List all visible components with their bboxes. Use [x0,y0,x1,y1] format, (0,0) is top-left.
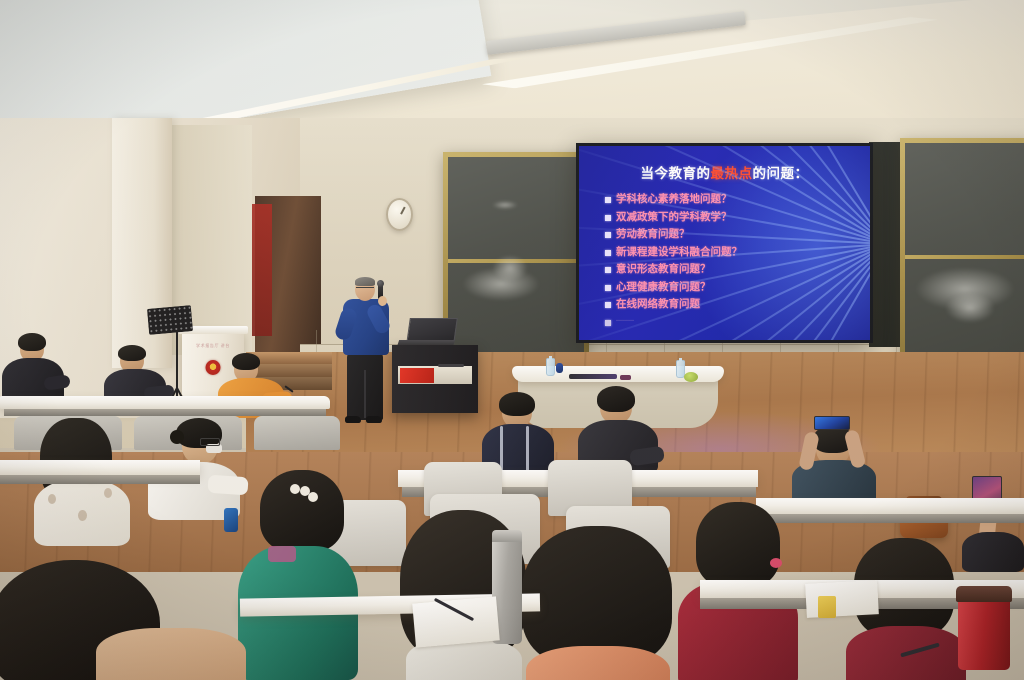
floral-pattern [78,510,87,521]
floral-pattern [48,494,56,504]
desk-edge [0,475,200,484]
lectern-label: 学术报告厅 讲台 [196,343,230,349]
cable-on-cart [438,364,464,367]
wall-dark-strip [869,142,902,347]
hair-bun [260,470,344,552]
desk-front-panel [254,416,340,450]
bullet-square-icon [605,320,611,326]
red-thermos [958,598,1010,670]
chalk-smudge [492,255,528,281]
audience-person-foreground-skin [96,628,246,680]
music-stand-pole [176,330,178,392]
presentation-slide: 当今教育的最热点的问题： 学科核心素养落地问题？双减政策下的学科教学？劳动教育问… [579,146,870,340]
chalk-smudge [945,293,995,323]
purple-item-on-table [620,375,631,380]
bullet-square-icon [605,232,611,238]
chalk-smudge [492,201,518,209]
slide-bullet-faint-text: ……… [616,317,634,323]
hair-pin-pearls [290,484,300,494]
presenter-shoe-left [345,416,361,423]
red-case-on-cart [400,368,434,383]
yellow-note [818,596,836,618]
papers-on-desk [412,596,500,647]
hair-tie [770,558,782,568]
desk-row-back-edge [4,409,326,416]
blue-bottle-on-desk [224,508,238,532]
hair [232,353,260,370]
remote-on-table [569,374,617,379]
audience-person-teal-sweater [238,470,358,680]
hair-ponytail [696,502,780,588]
hair [118,345,146,361]
bullet-square-icon [605,197,611,203]
led-display-wall[interactable]: 当今教育的最热点的问题： 学科核心素养落地问题？双减政策下的学科教学？劳动教育问… [576,143,873,343]
desk-edge [760,514,1024,523]
bullet-square-icon [605,285,611,291]
chalkboard-left [443,152,589,358]
slide-bullet-text: 意识形态教育问题？ [616,264,711,275]
lecture-hall-photo: 当今教育的最热点的问题： 学科核心素养落地问题？双减政策下的学科教学？劳动教育问… [0,0,1024,680]
hair [499,392,535,416]
water-bottle [546,358,555,376]
green-fruit-on-table [684,372,698,382]
microphone-head-icon [377,280,384,287]
hair-long [522,526,672,666]
presenter-shoe-right [366,416,382,423]
bullet-square-icon [605,250,611,256]
presenter-hand [378,296,387,306]
smartphone-icon[interactable] [814,416,850,430]
glasses-icon [356,287,374,292]
hair [18,333,46,351]
bullet-square-icon [605,302,611,308]
torso-dark [962,532,1024,572]
presenter-leg-split [364,370,366,418]
torso-peach [526,646,670,680]
hair-bun-knot [170,430,184,444]
presenter-person [338,278,398,423]
music-stand-plate [147,305,193,335]
wall-clock-icon [386,198,413,231]
thermos-cap [492,530,522,542]
collar-accent [268,546,296,562]
glasses-icon [200,438,220,446]
stripe [526,426,529,474]
bullet-square-icon [605,215,611,221]
shoulder [96,628,246,680]
small-device-on-table [556,363,563,373]
desk-row-back[interactable] [0,396,330,409]
hair [597,386,635,412]
floral-pattern [104,488,112,498]
thermos-cap [956,586,1012,602]
audience-person-peach-top [522,526,672,680]
presenter-hair [355,277,375,286]
audience-person-floral-blouse [34,424,130,544]
bullet-square-icon [605,267,611,273]
papers-on-desk-right [805,580,879,618]
door-red-panel [252,204,272,336]
chalkboard-right [900,138,1024,363]
chalkboard-right-divider [905,255,1024,259]
desk-row-third-left[interactable] [0,460,200,475]
audience-person-photographer [790,416,876,502]
